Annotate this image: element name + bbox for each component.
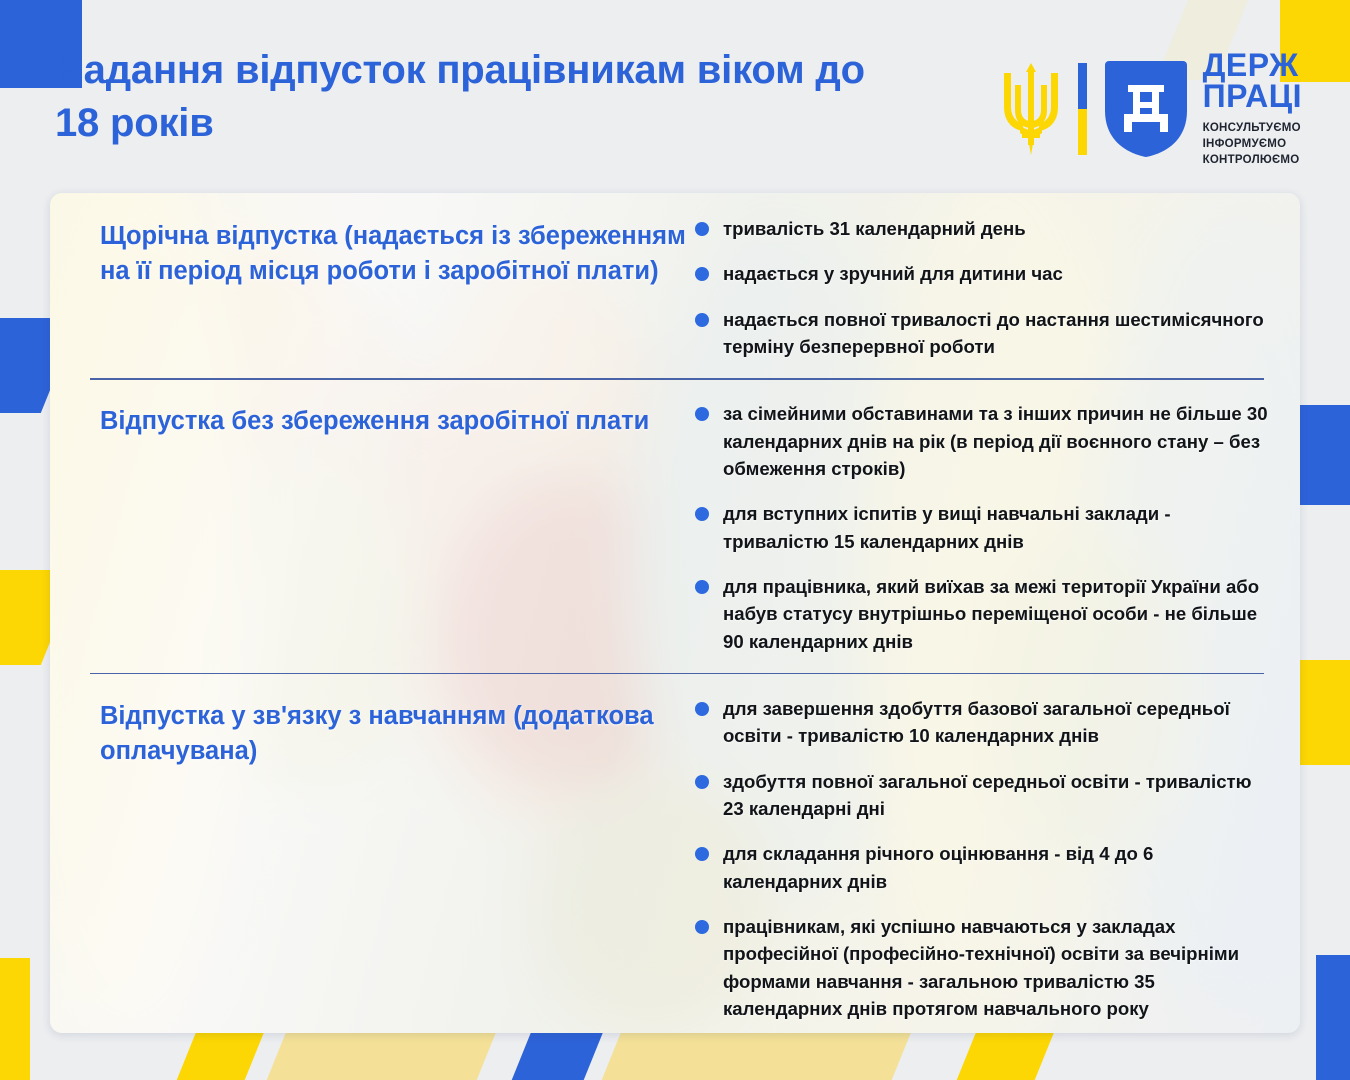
list-item: для вступних іспитів у вищі навчальні за…: [693, 500, 1268, 555]
list-item-text: надається повної тривалості до настання …: [723, 309, 1264, 357]
logo-subtitle-line3: КОНТРОЛЮЄМО: [1203, 152, 1302, 168]
logo-word-line2: ПРАЦІ: [1203, 81, 1302, 112]
bullet-dot-icon: [695, 407, 709, 421]
list-item: для працівника, який виїхав за межі тери…: [693, 573, 1268, 655]
bullet-dot-icon: [695, 580, 709, 594]
list-item: тривалість 31 календарний день: [693, 215, 1268, 242]
list-item-text: надається у зручний для дитини час: [723, 263, 1063, 284]
section-annual-leave: Щорічна відпустка (надається із збережен…: [78, 193, 1272, 378]
section-heading: Відпустка у зв'язку з навчанням (додатко…: [78, 695, 693, 1022]
logo-wordmark: ДЕРЖ ПРАЦІ КОНСУЛЬТУЄМО ІНФОРМУЄМО КОНТР…: [1203, 50, 1302, 169]
bullet-dot-icon: [695, 920, 709, 934]
bullet-dot-icon: [695, 313, 709, 327]
logo-subtitle-line2: ІНФОРМУЄМО: [1203, 136, 1302, 152]
bullet-dot-icon: [695, 775, 709, 789]
bullet-dot-icon: [695, 267, 709, 281]
derzhpratsi-logo: ДЕРЖ ПРАЦІ КОНСУЛЬТУЄМО ІНФОРМУЄМО КОНТР…: [1000, 44, 1332, 169]
section-study-leave: Відпустка у зв'язку з навчанням (додатко…: [78, 673, 1272, 1033]
list-item: здобуття повної загальної середньої осві…: [693, 768, 1268, 823]
section-bullet-list: для завершення здобуття базової загально…: [693, 695, 1272, 1022]
page-title: Надання відпусток працівникам віком до 1…: [55, 44, 885, 150]
list-item-text: тривалість 31 календарний день: [723, 218, 1026, 239]
ukraine-trident-icon: [1000, 63, 1062, 155]
card-content: Щорічна відпустка (надається із збережен…: [50, 193, 1300, 1033]
logo-subtitle: КОНСУЛЬТУЄМО ІНФОРМУЄМО КОНТРОЛЮЄМО: [1203, 120, 1302, 169]
list-item-text: для працівника, який виїхав за межі тери…: [723, 576, 1259, 652]
corner-block-bottom-right: [1316, 955, 1350, 1080]
section-unpaid-leave: Відпустка без збереження заробітної плат…: [78, 378, 1272, 673]
content-card: Щорічна відпустка (надається із збережен…: [50, 193, 1300, 1033]
logo-divider-bar: [1078, 63, 1087, 155]
list-item-text: здобуття повної загальної середньої осві…: [723, 771, 1252, 819]
bullet-dot-icon: [695, 507, 709, 521]
bullet-dot-icon: [695, 702, 709, 716]
list-item: для завершення здобуття базової загально…: [693, 695, 1268, 750]
bullet-dot-icon: [695, 847, 709, 861]
list-item: за сімейними обставинами та з інших прич…: [693, 400, 1268, 482]
section-heading: Відпустка без збереження заробітної плат…: [78, 400, 693, 655]
logo-subtitle-line1: КОНСУЛЬТУЄМО: [1203, 120, 1302, 136]
list-item: працівникам, які успішно навчаються у за…: [693, 913, 1268, 1022]
section-bullet-list: тривалість 31 календарний день надається…: [693, 215, 1272, 360]
section-bullet-list: за сімейними обставинами та з інших прич…: [693, 400, 1272, 655]
corner-block-bottom-left: [0, 958, 30, 1080]
bullet-dot-icon: [695, 222, 709, 236]
list-item-text: для вступних іспитів у вищі навчальні за…: [723, 503, 1171, 551]
list-item: надається у зручний для дитини час: [693, 260, 1268, 287]
page-header: Надання відпусток працівникам віком до 1…: [0, 0, 1350, 193]
list-item: для складання річного оцінювання - від 4…: [693, 840, 1268, 895]
derzhpratsi-shield-icon: [1105, 61, 1187, 157]
logo-word-line1: ДЕРЖ: [1203, 50, 1302, 81]
list-item: надається повної тривалості до настання …: [693, 306, 1268, 361]
list-item-text: за сімейними обставинами та з інших прич…: [723, 403, 1268, 479]
list-item-text: працівникам, які успішно навчаються у за…: [723, 916, 1239, 1019]
list-item-text: для завершення здобуття базової загально…: [723, 698, 1230, 746]
list-item-text: для складання річного оцінювання - від 4…: [723, 843, 1153, 891]
section-heading: Щорічна відпустка (надається із збережен…: [78, 215, 693, 360]
